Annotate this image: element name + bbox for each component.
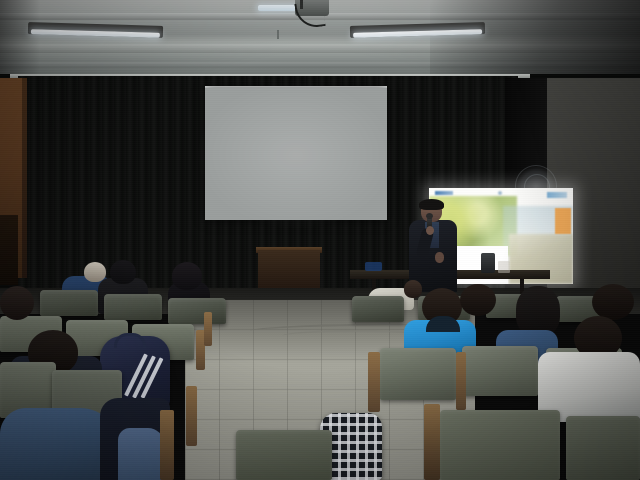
attendee-head: [172, 262, 202, 290]
ceiling-fitting: [277, 30, 279, 39]
auditorium-seat[interactable]: [352, 296, 404, 322]
left-lower-panel: [0, 215, 18, 285]
slide-logo-left-icon: [435, 191, 453, 195]
seat-armrest: [456, 352, 466, 410]
seat-armrest: [186, 386, 197, 446]
auditorium-seat[interactable]: [168, 298, 226, 324]
left-wood-trim: [22, 78, 27, 278]
hoodie-collar: [426, 316, 460, 332]
backpack-handle: [114, 333, 146, 348]
presenter: [405, 200, 461, 292]
auditorium-seat[interactable]: [40, 290, 98, 316]
auditorium-seat[interactable]: [380, 348, 456, 400]
attendee-head: [0, 286, 34, 320]
attendee-head: [592, 284, 634, 320]
projection-screen: [205, 88, 387, 220]
microphone-head: [426, 213, 433, 219]
attendee-head: [404, 280, 422, 298]
slide-accent-block: [555, 208, 571, 234]
blue-folder: [365, 262, 382, 271]
presenter-hand: [426, 226, 434, 235]
slide-logo-right-icon: [547, 192, 567, 198]
attendee-head: [110, 260, 136, 284]
attendee-head: [460, 284, 496, 316]
ceiling-shadow-right: [430, 0, 640, 78]
presenter-hand: [435, 252, 444, 263]
fluorescent-light-icon: [258, 5, 298, 11]
ceiling-shadow-left: [0, 0, 40, 78]
auditorium-seat[interactable]: [462, 346, 538, 396]
equipment-box: [481, 253, 495, 273]
auditorium-photo: Auditorium presentation with projected s…: [0, 0, 640, 480]
attendee-head: [516, 286, 560, 336]
seat-armrest: [204, 312, 212, 346]
slide-mark-icon: [497, 190, 503, 196]
paper-stack: [498, 261, 510, 273]
auditorium-seat[interactable]: [104, 294, 162, 320]
podium: [258, 250, 320, 290]
presenter-hair: [419, 199, 444, 210]
seat-armrest: [368, 352, 380, 412]
